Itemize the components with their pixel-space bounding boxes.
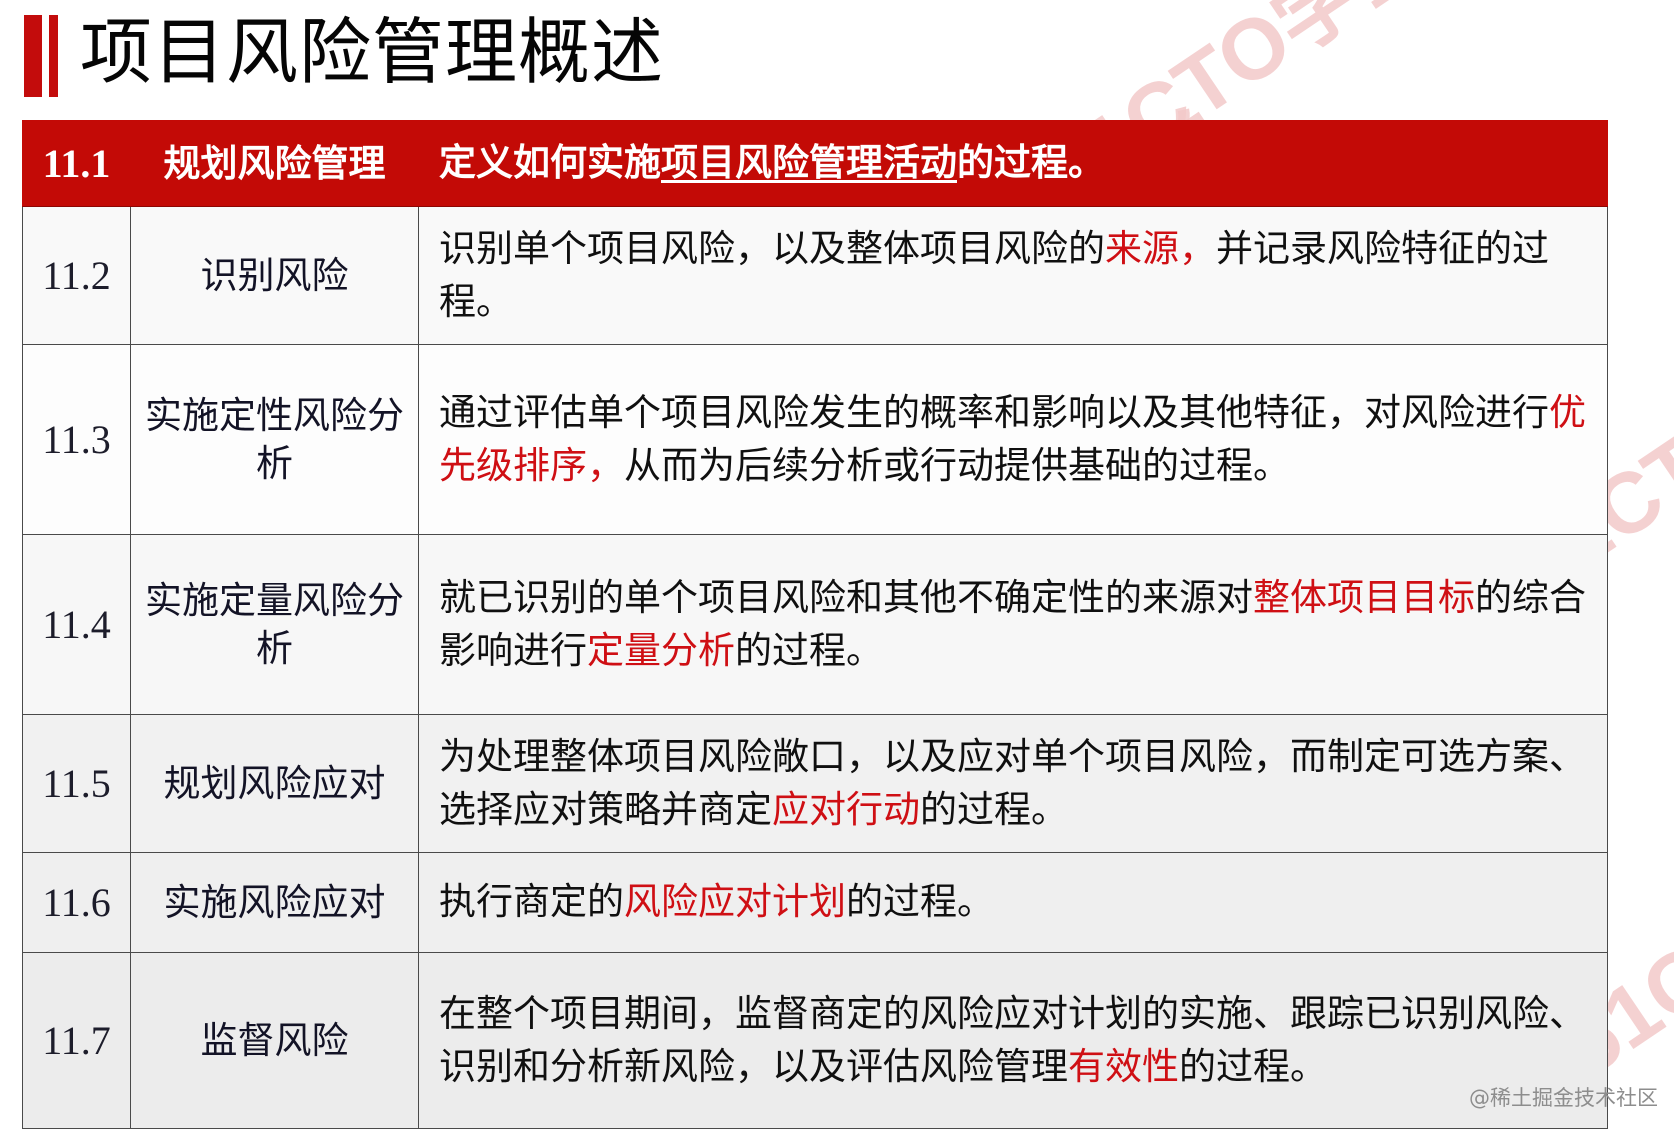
process-description-cell: 识别单个项目风险，以及整体项目风险的来源，并记录风险特征的过程。 <box>419 207 1608 345</box>
highlighted-term: 定量分析 <box>587 629 735 672</box>
process-description-cell: 就已识别的单个项目风险和其他不确定性的来源对整体项目目标的综合影响进行定量分析的… <box>419 535 1608 715</box>
description-text: 的过程。 <box>1179 1045 1327 1088</box>
description-text: 的过程。 <box>735 629 883 672</box>
table-row: 11.4实施定量风险分析就已识别的单个项目风险和其他不确定性的来源对整体项目目标… <box>23 535 1608 715</box>
process-description-cell: 通过评估单个项目风险发生的概率和影响以及其他特征，对风险进行优先级排序，从而为后… <box>419 345 1608 535</box>
table-row: 11.7监督风险在整个项目期间，监督商定的风险应对计划的实施、跟踪已识别风险、识… <box>23 953 1608 1129</box>
process-name-cell: 实施风险应对 <box>131 853 419 953</box>
process-id-cell: 11.7 <box>23 953 131 1129</box>
credit-watermark: @稀土掘金技术社区 <box>1469 1082 1658 1112</box>
process-name-cell: 监督风险 <box>131 953 419 1129</box>
process-id-cell: 11.4 <box>23 535 131 715</box>
description-text: 定义如何实施 <box>439 141 661 184</box>
underlined-term: 项目风险管理活动 <box>661 141 957 184</box>
process-description-cell: 在整个项目期间，监督商定的风险应对计划的实施、跟踪已识别风险、识别和分析新风险，… <box>419 953 1608 1129</box>
process-name-cell: 规划风险应对 <box>131 715 419 853</box>
process-name-cell: 实施定量风险分析 <box>131 535 419 715</box>
process-description-cell: 定义如何实施项目风险管理活动的过程。 <box>419 121 1608 207</box>
description-text: 识别单个项目风险，以及整体项目风险的 <box>439 227 1105 270</box>
process-id-cell: 11.2 <box>23 207 131 345</box>
description-text: 的过程。 <box>920 788 1068 831</box>
title-accent-bars-icon <box>24 15 58 97</box>
page-title: 项目风险管理概述 <box>80 16 664 96</box>
description-text: 的过程。 <box>846 880 994 923</box>
description-text: 的过程。 <box>957 141 1105 184</box>
process-id-cell: 11.3 <box>23 345 131 535</box>
process-id-cell: 11.5 <box>23 715 131 853</box>
highlighted-term: 应对行动 <box>772 788 920 831</box>
slide-title-row: 项目风险管理概述 <box>0 0 1674 112</box>
description-text: 就已识别的单个项目风险和其他不确定性的来源对 <box>439 576 1253 619</box>
process-description-cell: 执行商定的风险应对计划的过程。 <box>419 853 1608 953</box>
highlighted-term: 有效性 <box>1068 1045 1179 1088</box>
table-row: 11.2识别风险识别单个项目风险，以及整体项目风险的来源，并记录风险特征的过程。 <box>23 207 1608 345</box>
description-text: 在整个项目期间，监督商定的风险应对计划的实施、跟踪已识别风险、识别和分析新风险，… <box>439 992 1586 1088</box>
description-text: 执行商定的 <box>439 880 624 923</box>
description-text: 通过评估单个项目风险发生的概率和影响以及其他特征，对风险进行 <box>439 391 1549 434</box>
process-name-cell: 规划风险管理 <box>131 121 419 207</box>
table-row: 11.5规划风险应对为处理整体项目风险敞口，以及应对单个项目风险，而制定可选方案… <box>23 715 1608 853</box>
process-description-cell: 为处理整体项目风险敞口，以及应对单个项目风险，而制定可选方案、选择应对策略并商定… <box>419 715 1608 853</box>
highlighted-term: 风险应对计划 <box>624 880 846 923</box>
process-name-cell: 识别风险 <box>131 207 419 345</box>
process-id-cell: 11.1 <box>23 121 131 207</box>
table-row: 11.3实施定性风险分析通过评估单个项目风险发生的概率和影响以及其他特征，对风险… <box>23 345 1608 535</box>
highlighted-term: 整体项目目标 <box>1253 576 1475 619</box>
table-row: 11.6实施风险应对执行商定的风险应对计划的过程。 <box>23 853 1608 953</box>
table-body: 11.1规划风险管理定义如何实施项目风险管理活动的过程。11.2识别风险识别单个… <box>23 121 1608 1129</box>
description-text: 从而为后续分析或行动提供基础的过程。 <box>624 444 1290 487</box>
process-table-wrapper: 11.1规划风险管理定义如何实施项目风险管理活动的过程。11.2识别风险识别单个… <box>22 120 1608 1129</box>
process-id-cell: 11.6 <box>23 853 131 953</box>
process-name-cell: 实施定性风险分析 <box>131 345 419 535</box>
risk-process-table: 11.1规划风险管理定义如何实施项目风险管理活动的过程。11.2识别风险识别单个… <box>22 120 1608 1129</box>
table-header-row: 11.1规划风险管理定义如何实施项目风险管理活动的过程。 <box>23 121 1608 207</box>
highlighted-term: 来源， <box>1105 227 1216 270</box>
